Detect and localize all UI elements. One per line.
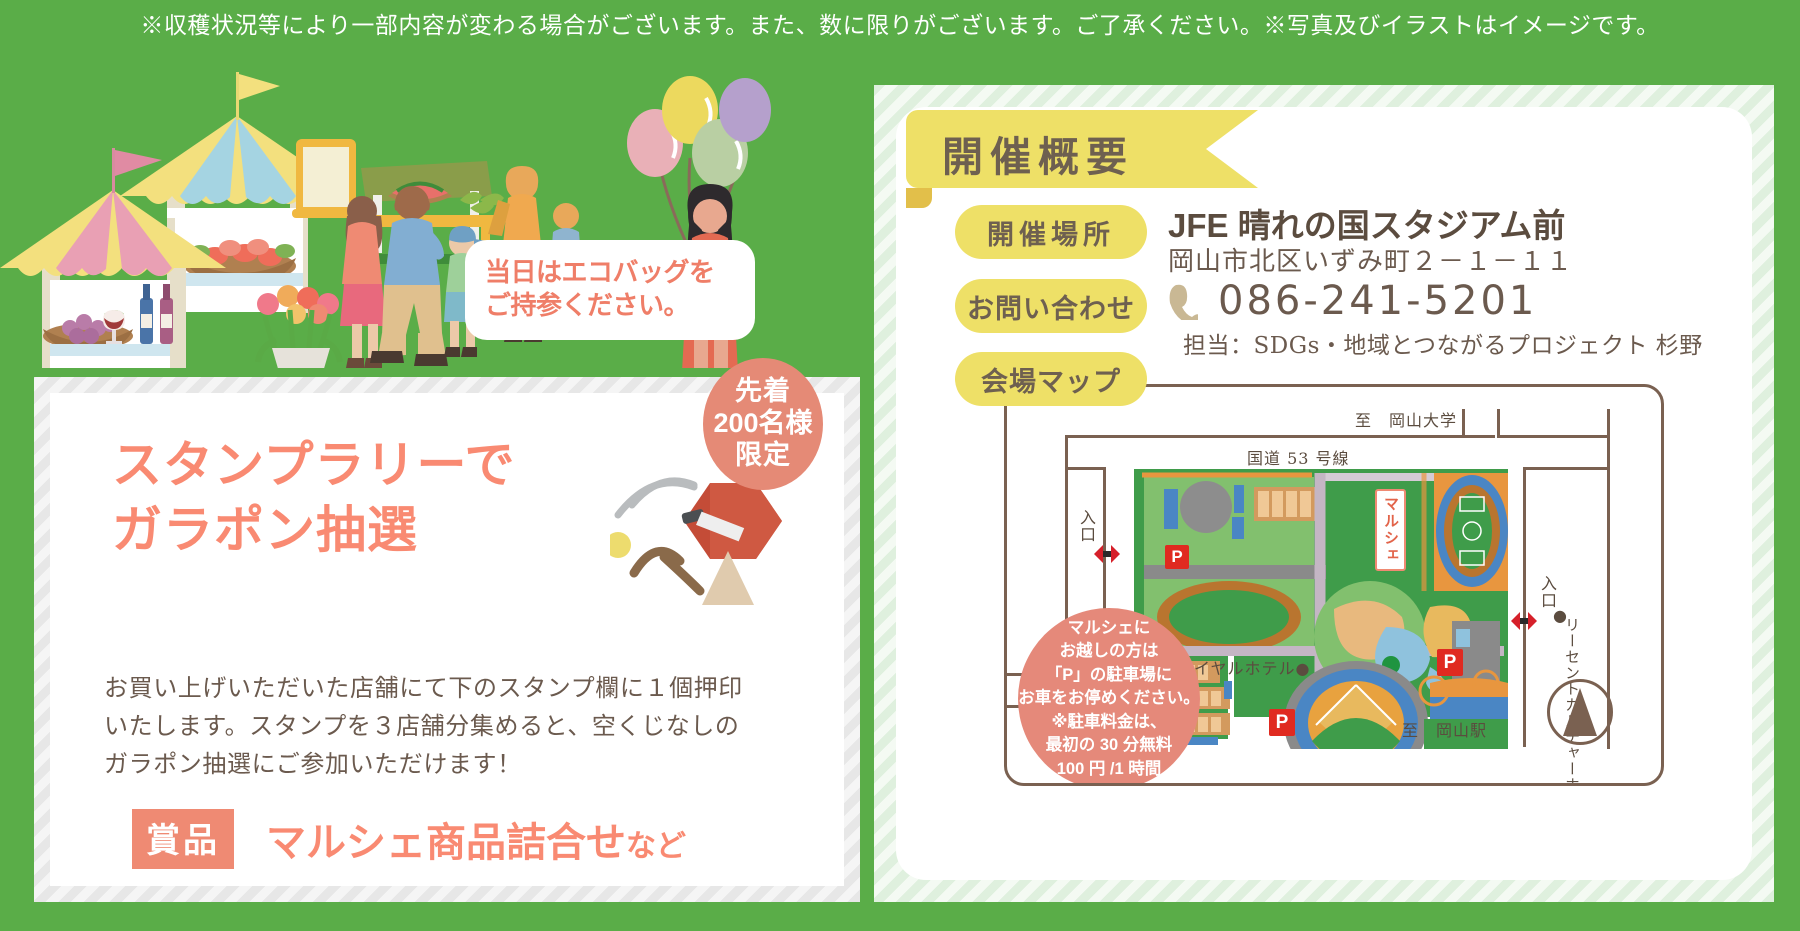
staff-contact: 担当：SDGs・地域とつながるプロジェクト 杉野 bbox=[1183, 326, 1703, 360]
flyer-canvas: ※収穫状況等により一部内容が変わる場合がございます。また、数に限りがございます。… bbox=[0, 0, 1800, 931]
compass-needle-icon bbox=[1557, 686, 1603, 738]
limited-quantity-badge: 先着 200名様 限定 bbox=[703, 358, 823, 490]
entrance-arrow-west-icon bbox=[1094, 542, 1120, 566]
ribbon-fold-decoration bbox=[906, 188, 932, 208]
label-contact: お問い合わせ bbox=[955, 279, 1147, 333]
road-horizontal-left-stub bbox=[1065, 467, 1105, 470]
overview-ribbon-title: 開催概要 bbox=[942, 123, 1134, 183]
callout-line-0: マルシェに bbox=[1068, 617, 1151, 640]
venue-map: マルシェ P P P 至 岡山大学 国道 53 号線 入口 入口 リーセントカル… bbox=[1004, 384, 1664, 786]
prize-suffix-text: など bbox=[626, 830, 686, 863]
phone-icon bbox=[1168, 282, 1198, 320]
map-label-okayama-university: 至 岡山大学 bbox=[1355, 407, 1457, 431]
map-label-entrance-east: 入口 bbox=[1535, 575, 1559, 609]
callout-line-3: お車をお停めください。 bbox=[1018, 687, 1200, 710]
telephone-row: 086-241-5201 bbox=[1168, 278, 1537, 324]
rally-title-line2: ガラポン抽選 bbox=[112, 498, 516, 563]
badge-line1: 先着 bbox=[735, 376, 791, 408]
rally-body-line1: お買い上げいただいた店舗にて下のスタンプ欄に１個押印 bbox=[104, 670, 744, 708]
callout-line-4: ※駐車料金は、 bbox=[1051, 711, 1166, 734]
badge-line3: 限定 bbox=[735, 440, 791, 472]
rally-body-line2: いたします。スタンプを３店舗分集めると、空くじなしの bbox=[104, 708, 744, 746]
map-label-recent-hotel-dot: ● bbox=[1553, 606, 1568, 625]
map-label-okayama-station: 至 岡山駅 bbox=[1402, 717, 1487, 741]
prize-description: マルシェ商品詰合せなど bbox=[266, 810, 686, 868]
callout-line-2: 「P」の駐車場に bbox=[1046, 664, 1173, 687]
disclaimer-notice: ※収穫状況等により一部内容が変わる場合がございます。また、数に限りがございます。… bbox=[0, 6, 1800, 40]
entrance-arrow-east-icon bbox=[1511, 609, 1537, 633]
road-vertical-top-stub-left bbox=[1462, 409, 1465, 437]
road-vertical-top-stub-right bbox=[1497, 409, 1500, 437]
parking-marker-northwest: P bbox=[1165, 545, 1189, 569]
rally-title: スタンプラリーで ガラポン抽選 bbox=[112, 433, 516, 563]
road-vertical-right bbox=[1523, 467, 1526, 747]
flower-pot-icon bbox=[257, 285, 340, 368]
eco-bag-line2: ご持参ください。 bbox=[485, 289, 755, 322]
marche-location-marker: マルシェ bbox=[1375, 489, 1406, 571]
callout-line-5: 最初の 30 分無料 bbox=[1046, 734, 1173, 757]
road-horizontal-top bbox=[1065, 435, 1495, 438]
road-horizontal-right-stub bbox=[1523, 467, 1607, 470]
prize-main-text: マルシェ商品詰合せ bbox=[266, 821, 626, 865]
rally-body-line3: ガラポン抽選にご参加いただけます！ bbox=[104, 746, 744, 784]
venue-address: 岡山市北区いずみ町２－１－１１ bbox=[1168, 241, 1573, 278]
venue-name: JFE 晴れの国スタジアム前 bbox=[1168, 199, 1565, 247]
family-figures bbox=[340, 186, 448, 368]
label-venue-map: 会場マップ bbox=[955, 352, 1147, 406]
label-venue: 開催場所 bbox=[955, 205, 1147, 259]
telephone-number[interactable]: 086-241-5201 bbox=[1218, 278, 1537, 324]
prize-row: 賞品 マルシェ商品詰合せなど bbox=[132, 809, 686, 869]
royal-hotel-dot-icon: ● bbox=[1296, 659, 1311, 678]
badge-line2: 200名様 bbox=[713, 408, 812, 440]
map-label-route53: 国道 53 号線 bbox=[1247, 445, 1350, 469]
callout-line-6: 100 円 /1 時間 bbox=[1057, 758, 1162, 781]
map-label-entrance-west: 入口 bbox=[1074, 509, 1098, 543]
prize-tag: 賞品 bbox=[132, 809, 234, 869]
eco-bag-bubble: 当日はエコバッグを ご持参ください。 bbox=[465, 240, 755, 340]
rally-description: お買い上げいただいた店舗にて下のスタンプ欄に１個押印 いたします。スタンプを３店… bbox=[104, 670, 744, 784]
road-horizontal-top-right bbox=[1497, 435, 1607, 438]
overview-ribbon: 開催概要 bbox=[906, 110, 1206, 188]
parking-marker-south: P bbox=[1269, 709, 1295, 736]
eco-bag-line1: 当日はエコバッグを bbox=[485, 256, 755, 289]
callout-line-1: お越しの方は bbox=[1060, 640, 1159, 663]
compass-north-icon bbox=[1547, 679, 1613, 745]
rally-title-line1: スタンプラリーで bbox=[112, 433, 516, 498]
parking-callout: マルシェに お越しの方は 「P」の駐車場に お車をお停めください。 ※駐車料金は… bbox=[1018, 608, 1200, 786]
parking-marker-east: P bbox=[1437, 649, 1463, 676]
